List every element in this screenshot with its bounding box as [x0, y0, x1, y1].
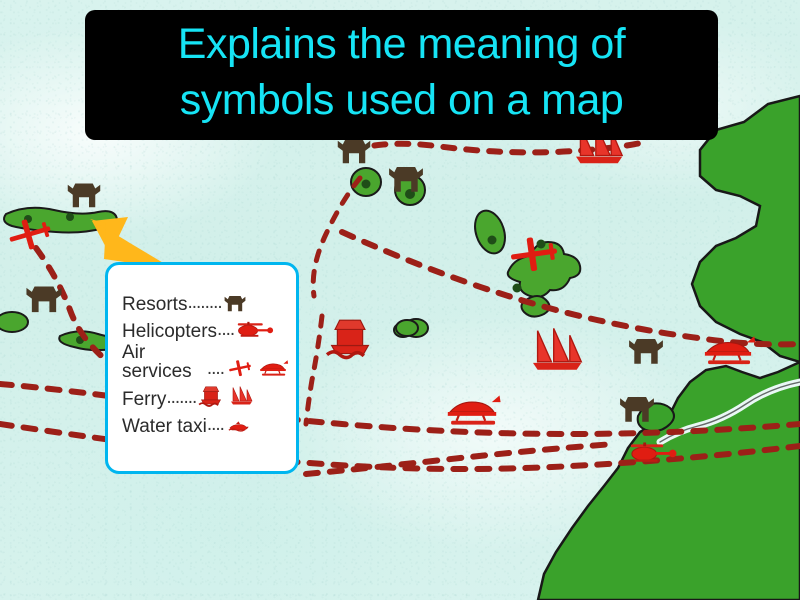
land-mass — [538, 96, 800, 600]
island — [396, 320, 418, 336]
seaplane-icon — [448, 396, 501, 425]
helicopter-icon — [235, 318, 275, 342]
route-line — [306, 316, 322, 424]
definition-banner: Explains the meaning of symbols used on … — [85, 10, 718, 140]
airplane-icon — [225, 355, 255, 381]
legend-label-water-taxi: Water taxi — [122, 416, 207, 437]
banner-line-1: Explains the meaning of — [103, 16, 700, 72]
legend-dots-ferry: ....... — [166, 387, 196, 410]
resort-hut-icon — [68, 184, 101, 208]
legend-label-air-services: Air services — [122, 343, 207, 381]
island — [470, 207, 510, 257]
map-legend-callout: Resorts ........ Helicopters .... Air se… — [105, 262, 299, 474]
resort-hut-icon — [223, 293, 247, 315]
ferry-boat-icon — [197, 382, 225, 410]
banner-line-2: symbols used on a map — [103, 72, 700, 128]
sailboat-icon — [533, 328, 581, 369]
resort-hut-icon — [338, 140, 371, 164]
legend-item-ferry: Ferry ....... — [122, 382, 290, 410]
legend-dots-helicopters: .... — [217, 319, 234, 342]
legend-item-water-taxi: Water taxi .... — [122, 411, 290, 437]
legend-label-helicopters: Helicopters — [122, 321, 217, 342]
legend-item-helicopters: Helicopters .... — [122, 316, 290, 342]
legend-dots-water-taxi: .... — [207, 414, 224, 437]
legend-label-ferry: Ferry — [122, 389, 166, 410]
water-taxi-icon — [225, 417, 253, 437]
legend-dots-resorts: ........ — [187, 292, 221, 315]
sailboat-icon — [226, 382, 256, 410]
resort-hut-icon — [629, 339, 663, 364]
legend-label-resorts: Resorts — [122, 294, 187, 315]
island — [0, 312, 28, 332]
ferry-boat-icon — [327, 320, 368, 357]
resort-hut-icon — [26, 287, 61, 313]
map-illustration: Explains the meaning of symbols used on … — [0, 0, 800, 600]
legend-dots-air-services: .... — [207, 358, 224, 381]
legend-item-air-services: Air services .... — [122, 343, 290, 381]
seaplane-icon — [256, 357, 290, 381]
legend-item-resorts: Resorts ........ — [122, 289, 290, 315]
